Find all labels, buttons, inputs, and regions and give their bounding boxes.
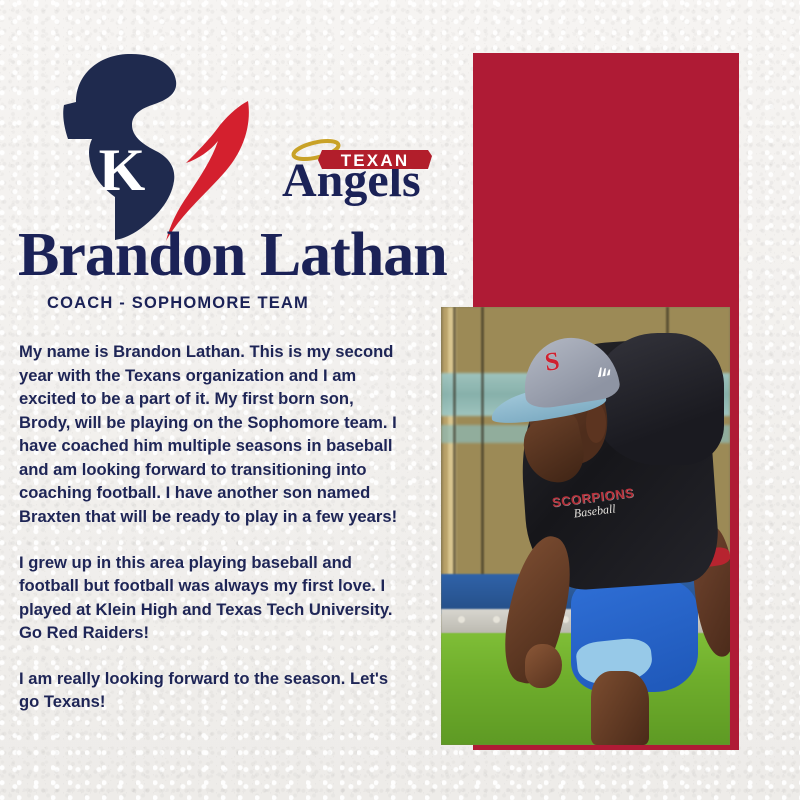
photo-fence-post xyxy=(481,307,484,579)
texans-k-bull-logo: K xyxy=(52,47,264,243)
photo-shoulder xyxy=(591,333,724,464)
coach-role-subtitle: COACH - SOPHOMORE TEAM xyxy=(47,294,309,313)
texan-banner: TEXAN xyxy=(318,150,432,170)
photo-leg xyxy=(591,671,649,745)
bio-paragraph: I grew up in this area playing baseball … xyxy=(19,551,400,645)
photo-post-bolt xyxy=(493,616,500,623)
photo-fence-post xyxy=(453,307,456,579)
texan-banner-text: TEXAN xyxy=(341,151,410,170)
texan-angels-logo: Angels TEXAN xyxy=(276,134,456,206)
logo-letter-k: K xyxy=(99,137,146,203)
coach-profile-poster: K Angels TEXAN Brandon Lathan COACH - SO… xyxy=(0,0,800,800)
logo-letter-k-text: K xyxy=(99,137,146,203)
bio-paragraph: My name is Brandon Lathan. This is my se… xyxy=(19,340,400,529)
coach-bio: My name is Brandon Lathan. This is my se… xyxy=(19,340,400,714)
coach-portrait-photo: S SCORPIONS Baseball xyxy=(441,307,730,745)
coach-name-heading: Brandon Lathan xyxy=(18,224,447,286)
bio-paragraph: I am really looking forward to the seaso… xyxy=(19,667,400,714)
